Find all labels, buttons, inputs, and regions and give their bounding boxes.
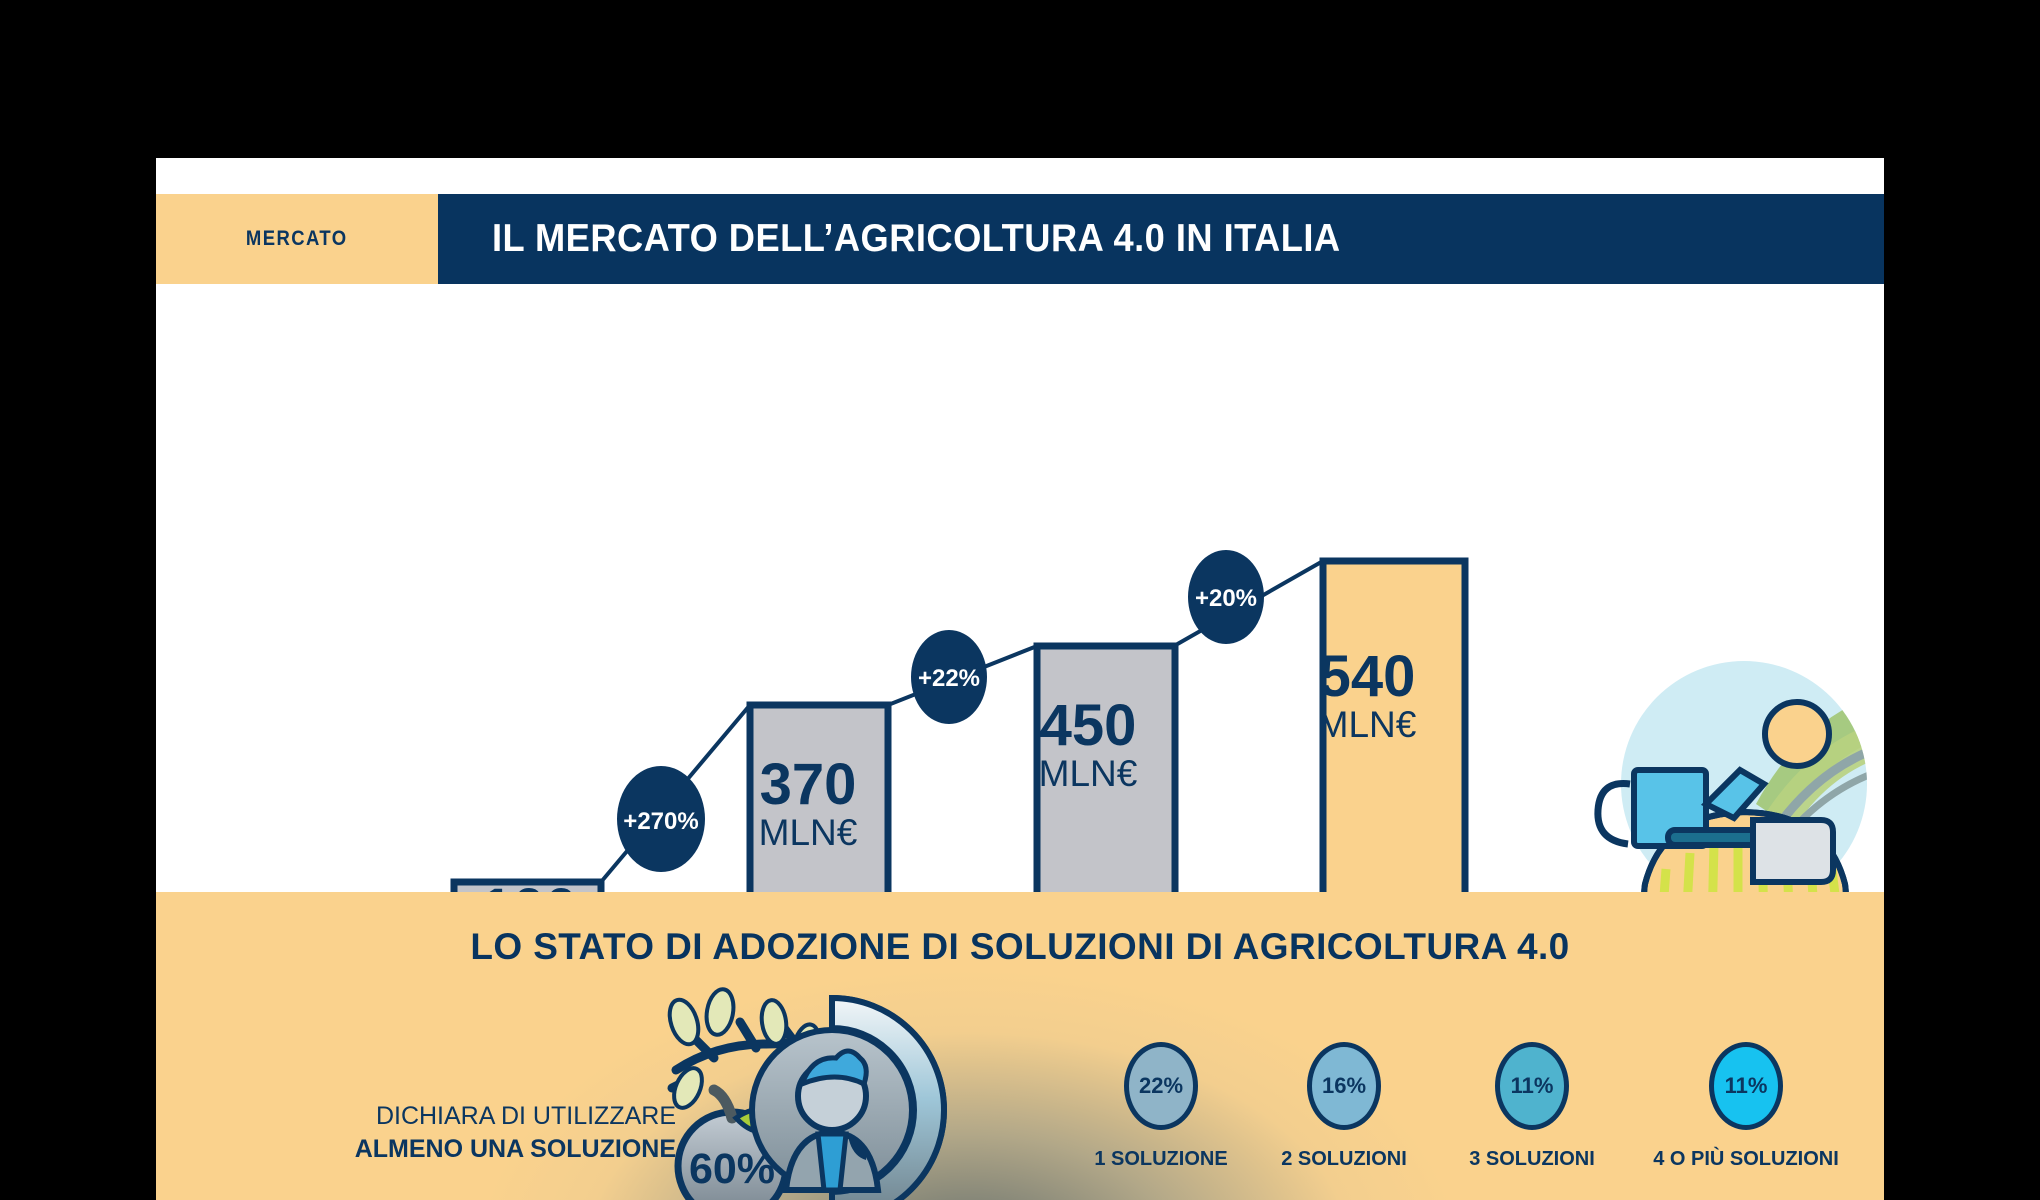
solution-value-2: 16% xyxy=(1322,1073,1366,1099)
solution-label-2: 2 SOLUZIONI xyxy=(1269,1148,1419,1171)
farmer-gauge-illustration-icon: 60% xyxy=(636,978,1056,1200)
unit-2019: MLN€ xyxy=(1039,753,1138,794)
solution-bubble-1: 22% xyxy=(1124,1042,1198,1130)
infographic-root: MERCATO IL MERCATO DELL’AGRICOLTURA 4.0 … xyxy=(0,0,2040,1200)
header-title-bar: IL MERCATO DELL’AGRICOLTURA 4.0 IN ITALI… xyxy=(438,194,1884,284)
growth-badge-270: +270% xyxy=(617,766,705,872)
solution-value-1: 22% xyxy=(1139,1073,1183,1099)
farm-illustration-icon xyxy=(1598,661,1884,892)
solution-item-4: 11% 4 O PIÙ SOLUZIONI xyxy=(1646,1042,1846,1171)
svg-text:+20%: +20% xyxy=(1195,585,1257,612)
value-2017: 100 xyxy=(481,877,578,892)
solution-item-3: 11% 3 SOLUZIONI xyxy=(1457,1042,1607,1171)
solution-bubble-3: 11% xyxy=(1495,1042,1569,1130)
unit-2020: MLN€ xyxy=(1318,704,1417,745)
solution-label-1: 1 SOLUZIONE xyxy=(1086,1148,1236,1171)
page-title: IL MERCATO DELL’AGRICOLTURA 4.0 IN ITALI… xyxy=(438,217,1341,261)
header-band: MERCATO IL MERCATO DELL’AGRICOLTURA 4.0 … xyxy=(156,194,1884,284)
solution-value-4: 11% xyxy=(1725,1073,1768,1099)
solution-item-1: 22% 1 SOLUZIONE xyxy=(1086,1042,1236,1171)
unit-2018: MLN€ xyxy=(759,812,858,853)
section-tag-mercato: MERCATO xyxy=(156,194,438,284)
solution-value-3: 11% xyxy=(1511,1073,1554,1099)
growth-badge-20: +20% xyxy=(1188,550,1264,644)
solution-item-2: 16% 2 SOLUZIONI xyxy=(1269,1042,1419,1171)
solution-label-4: 4 O PIÙ SOLUZIONI xyxy=(1646,1148,1846,1171)
declaration-line-2: ALMENO UNA SOLUZIONE xyxy=(346,1133,676,1166)
declaration-line-1: DICHIARA DI UTILIZZARE xyxy=(346,1100,676,1133)
svg-text:+270%: +270% xyxy=(623,808,698,835)
svg-text:+22%: +22% xyxy=(918,665,980,692)
bar-chart: 100 MLN€ 370 MLN€ 450 MLN€ 540 MLN€ 2017… xyxy=(156,284,1884,892)
value-2018: 370 xyxy=(760,752,857,817)
market-chart-panel: 100 MLN€ 370 MLN€ 450 MLN€ 540 MLN€ 2017… xyxy=(156,284,1884,892)
growth-badge-22: +22% xyxy=(911,630,987,724)
adoption-title: LO STATO DI ADOZIONE DI SOLUZIONI DI AGR… xyxy=(156,926,1884,968)
solution-label-3: 3 SOLUZIONI xyxy=(1457,1148,1607,1171)
farmer-avatar-icon xyxy=(752,1030,912,1190)
section-tag-label: MERCATO xyxy=(246,227,348,251)
adoption-band: LO STATO DI ADOZIONE DI SOLUZIONI DI AGR… xyxy=(156,892,1884,1200)
value-2019: 450 xyxy=(1040,693,1137,758)
solution-bubble-2: 16% xyxy=(1307,1042,1381,1130)
solution-bubble-4: 11% xyxy=(1709,1042,1783,1130)
value-2020: 540 xyxy=(1319,644,1416,709)
declaration-text: DICHIARA DI UTILIZZARE ALMENO UNA SOLUZI… xyxy=(346,1100,676,1166)
infographic-card: MERCATO IL MERCATO DELL’AGRICOLTURA 4.0 … xyxy=(156,158,1884,1200)
solutions-row: 22% 1 SOLUZIONE 16% 2 SOLUZIONI 11% 3 SO… xyxy=(1086,1042,1846,1192)
